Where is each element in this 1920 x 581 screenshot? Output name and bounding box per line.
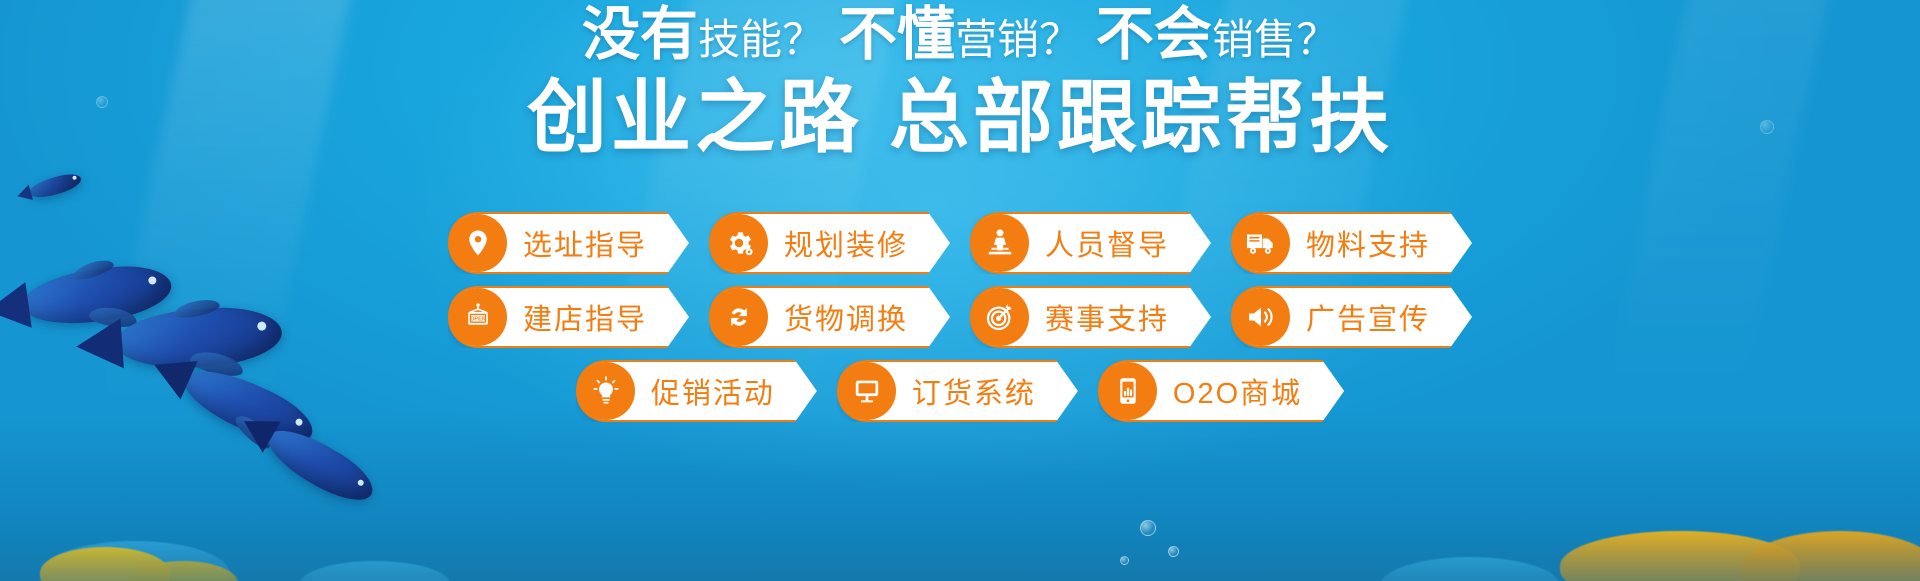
sea-floor [0,531,1920,581]
headline-block: 没有技能？ 不懂营销？ 不会销售？ 创业之路总部跟踪帮扶 [0,6,1920,158]
headline-seg-6: 销售？ [1212,16,1338,63]
headline-seg-3: 不懂 [839,2,955,67]
badge-label: 人员督导 [1029,222,1169,264]
badge-label: 物料支持 [1290,222,1430,264]
bubble [1760,120,1774,134]
badge-label: 规划装修 [768,222,908,264]
yellow-coral [1560,531,1800,581]
location-pin-icon [449,214,507,272]
badge-label: 选址指导 [507,222,647,264]
badge-planning-decoration[interactable]: 规划装修 [709,212,950,274]
headline-line2-left: 创业之路 [527,73,863,162]
badge-promotions[interactable]: 促销活动 [576,360,817,422]
coral-rock [300,561,450,581]
badge-advertising[interactable]: 广告宣传 [1231,286,1472,348]
badge-o2o-mall[interactable]: O2O商城 [1098,360,1344,422]
mobile-chart-icon [1099,362,1157,420]
megaphone-icon [1232,288,1290,346]
badge-row-1: 选址指导 规划装修 人员督导 物料支持 [0,212,1920,274]
bubble [1168,546,1179,557]
bubble [1120,556,1129,565]
headline-seg-4: 营销？ [955,16,1081,63]
promo-banner: 没有技能？ 不懂营销？ 不会销售？ 创业之路总部跟踪帮扶 选址指导 规划装修 [0,0,1920,581]
badge-site-selection[interactable]: 选址指导 [448,212,689,274]
monitor-icon [838,362,896,420]
headline-line2-right: 总部跟踪帮扶 [889,73,1393,162]
water-depth-shading [0,411,1920,581]
coral-rock [1380,557,1560,581]
badge-label: O2O商城 [1157,370,1302,412]
badge-row-3: 促销活动 订货系统 O2O商城 [0,360,1920,422]
bubble [1140,520,1156,536]
yellow-coral [128,561,238,581]
feature-badge-grid: 选址指导 规划装修 人员督导 物料支持 [0,212,1920,434]
badge-ordering-system[interactable]: 订货系统 [837,360,1078,422]
coral-rock [40,541,230,581]
yellow-coral [1740,531,1920,581]
fish-small [16,166,89,206]
badge-label: 货物调换 [768,296,908,338]
badge-row-2: OPEN 建店指导 货物调换 赛事支持 广告宣传 [0,286,1920,348]
delivery-truck-icon [1232,214,1290,272]
svg-text:OPEN: OPEN [470,316,486,322]
badge-label: 建店指导 [507,296,647,338]
target-dart-icon [971,288,1029,346]
badge-event-support[interactable]: 赛事支持 [970,286,1211,348]
badge-label: 订货系统 [896,370,1036,412]
yellow-coral [40,547,170,581]
badge-staff-supervision[interactable]: 人员督导 [970,212,1211,274]
badge-label: 广告宣传 [1290,296,1430,338]
headline-seg-5: 不会 [1096,2,1212,67]
headline-seg-1: 没有 [582,2,698,67]
lightbulb-icon [577,362,635,420]
badge-goods-exchange[interactable]: 货物调换 [709,286,950,348]
presenter-icon [971,214,1029,272]
badge-store-construction[interactable]: OPEN 建店指导 [448,286,689,348]
headline-line-2: 创业之路总部跟踪帮扶 [0,78,1920,158]
bubble [96,96,108,108]
badge-label: 赛事支持 [1029,296,1169,338]
badge-material-support[interactable]: 物料支持 [1231,212,1472,274]
badge-label: 促销活动 [635,370,775,412]
headline-seg-2: 技能？ [698,16,824,63]
headline-line-1: 没有技能？ 不懂营销？ 不会销售？ [0,6,1920,64]
open-sign-icon: OPEN [449,288,507,346]
gear-icon [710,214,768,272]
refresh-exchange-icon [710,288,768,346]
